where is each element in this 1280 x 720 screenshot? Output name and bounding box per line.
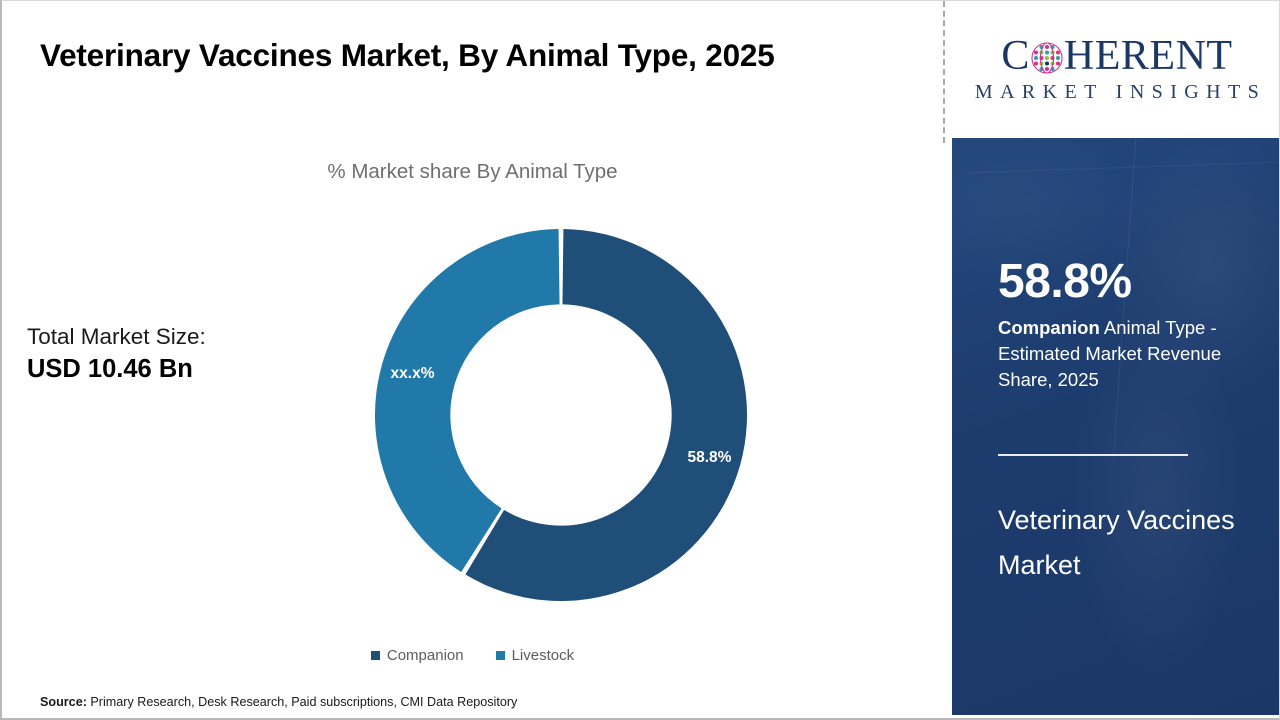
globe-dot: [1045, 67, 1049, 71]
source-line: Source: Primary Research, Desk Research,…: [40, 695, 517, 709]
logo-brand-part2: HERENT: [1064, 35, 1233, 77]
globe-dot: [1034, 56, 1038, 60]
legend-label-companion: Companion: [387, 647, 464, 664]
globe-dot: [1056, 56, 1060, 60]
highlight-stat-block: 58.8% Companion Animal Type - Estimated …: [998, 257, 1260, 394]
panel-divider-rule: [998, 454, 1188, 456]
donut-slice-livestock[interactable]: [375, 229, 560, 572]
globe-dot: [1045, 56, 1049, 60]
globe-dot: [1056, 50, 1060, 54]
left-content-pane: Veterinary Vaccines Market, By Animal Ty…: [2, 1, 943, 720]
legend-swatch-livestock-icon: [496, 651, 505, 660]
globe-dot: [1034, 61, 1038, 65]
source-text: Primary Research, Desk Research, Paid su…: [87, 695, 517, 709]
legend-item-companion[interactable]: Companion: [371, 647, 464, 664]
total-market-size-block: Total Market Size: USD 10.46 Bn: [27, 323, 327, 386]
total-market-size-value: USD 10.46 Bn: [27, 353, 327, 387]
globe-dot: [1045, 45, 1049, 49]
chart-legend: Companion Livestock: [2, 647, 943, 664]
logo-tagline: MARKET INSIGHTS: [968, 81, 1266, 104]
globe-dot: [1056, 61, 1060, 65]
infographic-page: Veterinary Vaccines Market, By Animal Ty…: [0, 0, 1280, 720]
donut-chart: xx.x% 58.8%: [375, 229, 747, 601]
slice-label-livestock: xx.x%: [391, 365, 435, 382]
vertical-dashed-divider: [943, 1, 945, 143]
total-market-size-label: Total Market Size:: [27, 323, 327, 352]
globe-dot: [1045, 61, 1049, 65]
legend-label-livestock: Livestock: [512, 647, 575, 664]
highlight-stat-value: 58.8%: [998, 257, 1260, 308]
logo-brand-part1: C: [1001, 35, 1030, 77]
logo-wordmark: C HERENT: [1001, 35, 1232, 77]
globe-dot: [1045, 50, 1049, 54]
chart-subtitle: % Market share By Animal Type: [2, 160, 943, 184]
source-prefix: Source:: [40, 695, 87, 709]
panel-background-texture: [952, 138, 1280, 715]
globe-dots-icon: [1031, 42, 1063, 74]
page-title: Veterinary Vaccines Market, By Animal Ty…: [40, 31, 870, 81]
highlight-stat-description: Companion Animal Type - Estimated Market…: [998, 315, 1260, 394]
highlight-stat-segment-name: Companion: [998, 317, 1100, 338]
legend-swatch-companion-icon: [371, 651, 380, 660]
right-panel-body: 58.8% Companion Animal Type - Estimated …: [952, 138, 1280, 715]
slice-label-companion: 58.8%: [687, 449, 731, 466]
brand-logo[interactable]: C HERENT MARKET INSIGHTS: [952, 1, 1280, 138]
panel-market-heading: Veterinary Vaccines Market: [998, 498, 1248, 588]
donut-chart-svg: xx.x% 58.8%: [375, 229, 747, 601]
legend-item-livestock[interactable]: Livestock: [496, 647, 575, 664]
globe-dot: [1034, 50, 1038, 54]
right-panel: C HERENT MARKET INSIGHTS 58.8% Companion…: [952, 1, 1280, 720]
donut-slices: [375, 229, 747, 601]
